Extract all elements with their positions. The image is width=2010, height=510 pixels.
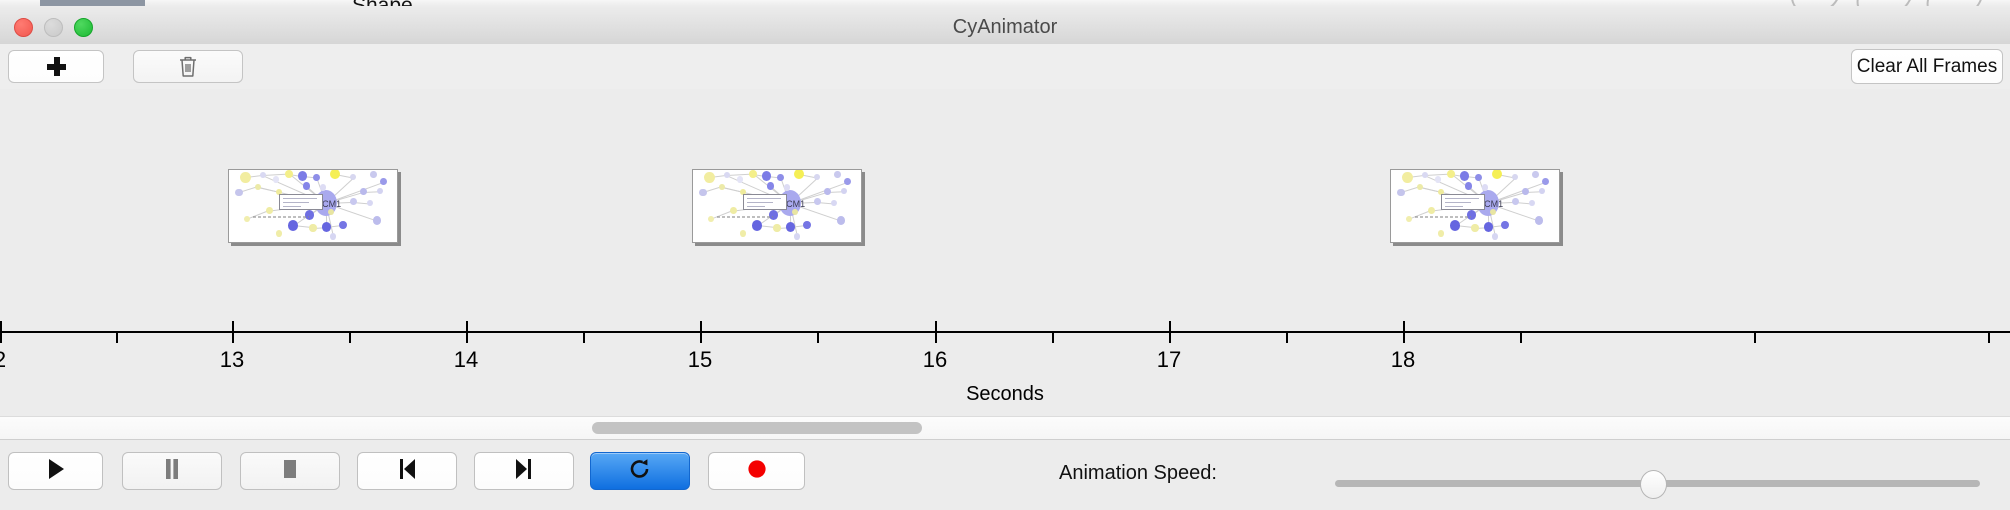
timeline-tick-label: 2 — [0, 347, 40, 373]
timeline-tick-minor — [1052, 332, 1054, 343]
graph-node — [330, 233, 336, 240]
graph-node — [1529, 200, 1535, 206]
tooltip-text-line — [1445, 206, 1463, 207]
frame-thumbnail[interactable]: MCM1 — [228, 169, 398, 243]
graph-node — [1467, 210, 1477, 220]
graph-node — [1402, 172, 1413, 184]
graph-node — [784, 184, 790, 190]
graph-node — [1539, 188, 1545, 194]
tooltip-text-line — [283, 206, 301, 207]
graph-node — [309, 224, 316, 232]
tooltip-text-line — [1445, 202, 1471, 203]
skip-start-button[interactable] — [357, 452, 457, 490]
graph-node — [837, 216, 845, 224]
graph-node — [1484, 222, 1493, 232]
graph-node — [1438, 230, 1444, 236]
timeline-tick-major — [466, 321, 468, 343]
timeline-panel[interactable]: MCM1MCM1MCM1 2131415161718 Seconds — [0, 89, 2010, 330]
timeline-tick-minor — [1286, 332, 1288, 343]
tooltip-text-line — [747, 202, 773, 203]
graph-node — [1512, 198, 1519, 205]
timeline-tick-minor — [1754, 332, 1756, 343]
play-icon — [46, 458, 66, 485]
frame-thumbnail[interactable]: MCM1 — [1390, 169, 1560, 243]
graph-node — [1490, 209, 1496, 215]
graph-node — [303, 182, 310, 189]
graph-node — [767, 182, 774, 189]
graph-annotation — [253, 216, 309, 218]
timeline-tick-label: 18 — [1363, 347, 1443, 373]
timeline-tick-label: 16 — [895, 347, 975, 373]
graph-node — [339, 221, 347, 230]
graph-node — [1522, 188, 1529, 195]
graph-node — [367, 200, 373, 206]
graph-node — [1465, 182, 1472, 189]
graph-node — [699, 189, 706, 197]
graph-node — [255, 184, 261, 190]
loop-button[interactable] — [590, 452, 690, 490]
cyanimator-window: Shape CyAnimator Clear All Frames MCM1MC… — [0, 0, 2010, 510]
tooltip-text-line — [747, 198, 781, 199]
record-button[interactable] — [708, 452, 805, 490]
graph-node — [288, 220, 298, 231]
graph-node — [814, 198, 821, 205]
graph-node — [844, 178, 851, 185]
stop-icon — [280, 458, 300, 485]
tooltip-text-line — [1445, 198, 1479, 199]
graph-node — [320, 184, 326, 190]
scrollbar-thumb[interactable] — [592, 422, 922, 434]
graph-node — [769, 210, 779, 220]
graph-node — [803, 221, 811, 230]
graph-node — [814, 174, 820, 180]
graph-node — [1397, 189, 1404, 197]
graph-node — [273, 176, 279, 182]
graph-node — [704, 172, 715, 184]
transport-bar: Animation Speed: — [0, 439, 2010, 510]
graph-node — [752, 220, 762, 231]
graph-node — [1535, 216, 1543, 224]
timeline-tick-minor — [817, 332, 819, 343]
loop-icon — [628, 457, 652, 486]
timeline-scrollbar[interactable] — [0, 416, 2010, 440]
graph-node — [708, 216, 714, 222]
skip-back-icon — [397, 458, 417, 485]
graph-node — [786, 222, 795, 232]
graph-node — [773, 224, 780, 232]
graph-node — [313, 174, 320, 181]
graph-node — [1428, 207, 1435, 214]
timeline-tick-label: 15 — [660, 347, 740, 373]
window-title: CyAnimator — [0, 16, 2010, 39]
delete-frame-button[interactable] — [133, 50, 243, 83]
graph-node — [298, 171, 307, 180]
graph-annotation — [717, 216, 773, 218]
timeline-tick-minor — [349, 332, 351, 343]
tooltip-text-line — [747, 206, 765, 207]
frame-toolbar: Clear All Frames — [0, 44, 2010, 90]
graph-node — [1501, 221, 1509, 230]
graph-node — [370, 171, 376, 178]
graph-node — [260, 172, 266, 178]
graph-node — [730, 207, 737, 214]
graph-node — [1532, 171, 1538, 178]
plus-icon — [47, 57, 66, 76]
graph-node — [373, 216, 381, 224]
timeline-tick-minor — [1988, 332, 1990, 343]
graph-node — [841, 188, 847, 194]
graph-node — [1492, 233, 1498, 240]
play-button[interactable] — [8, 452, 103, 490]
graph-node — [1482, 184, 1488, 190]
pause-icon — [163, 458, 181, 485]
graph-node — [330, 169, 340, 179]
graph-node — [792, 209, 798, 215]
graph-tooltip — [743, 194, 787, 210]
graph-node — [794, 233, 800, 240]
graph-node — [824, 188, 831, 195]
graph-node — [360, 188, 367, 195]
graph-tooltip — [1441, 194, 1485, 210]
skip-forward-icon — [514, 458, 534, 485]
graph-node — [276, 230, 282, 236]
timeline-tick-label: 14 — [426, 347, 506, 373]
timeline-tick-major — [1403, 321, 1405, 343]
graph-node — [834, 171, 840, 178]
graph-node — [1422, 172, 1428, 178]
tooltip-text-line — [283, 198, 317, 199]
timeline-tick-minor — [583, 332, 585, 343]
graph-node — [777, 174, 784, 181]
graph-node — [1542, 178, 1549, 185]
graph-node — [377, 188, 383, 194]
graph-node — [1471, 224, 1478, 232]
graph-node — [1417, 184, 1423, 190]
timeline-tick-major — [1169, 321, 1171, 343]
graph-node — [328, 209, 334, 215]
graph-node — [350, 174, 356, 180]
tooltip-text-line — [283, 202, 309, 203]
graph-node — [305, 210, 315, 220]
stop-button[interactable] — [240, 452, 340, 490]
graph-node — [380, 178, 387, 185]
record-icon — [746, 458, 768, 485]
graph-node — [322, 222, 331, 232]
graph-node — [762, 171, 771, 180]
timeline-tick-minor — [1520, 332, 1522, 343]
graph-tooltip — [279, 194, 323, 210]
graph-node — [724, 172, 730, 178]
timeline-axis — [0, 331, 2010, 333]
title-bar[interactable]: CyAnimator — [0, 6, 2010, 45]
timeline-tick-major — [935, 321, 937, 343]
timeline-tick-major — [232, 321, 234, 343]
add-frame-button[interactable] — [8, 50, 104, 83]
frame-thumbnail[interactable]: MCM1 — [692, 169, 862, 243]
graph-node — [740, 230, 746, 236]
timeline-tick-minor — [116, 332, 118, 343]
graph-node — [737, 176, 743, 182]
graph-node — [240, 172, 251, 184]
timeline-tick-major — [700, 321, 702, 343]
clear-all-frames-button[interactable]: Clear All Frames — [1851, 49, 2003, 84]
animation-speed-label: Animation Speed: — [1059, 462, 1217, 485]
timeline-tick-label: 13 — [192, 347, 272, 373]
graph-node — [831, 200, 837, 206]
graph-node — [350, 198, 357, 205]
graph-node — [244, 216, 250, 222]
trash-icon — [178, 55, 198, 78]
graph-node — [235, 189, 242, 197]
axis-title: Seconds — [0, 383, 2010, 406]
pause-button[interactable] — [122, 452, 222, 490]
graph-node — [1475, 174, 1482, 181]
graph-node — [1435, 176, 1441, 182]
graph-annotation — [1415, 216, 1471, 218]
graph-node — [719, 184, 725, 190]
graph-node — [1460, 171, 1469, 180]
graph-node — [794, 169, 804, 179]
skip-end-button[interactable] — [474, 452, 574, 490]
graph-node — [1450, 220, 1460, 231]
graph-node — [1492, 169, 1502, 179]
timeline-tick-label: 17 — [1129, 347, 1209, 373]
graph-node — [1406, 216, 1412, 222]
timeline-tick-major — [0, 321, 2, 343]
graph-node — [266, 207, 273, 214]
animation-speed-knob[interactable] — [1640, 470, 1667, 499]
graph-node — [1512, 174, 1518, 180]
